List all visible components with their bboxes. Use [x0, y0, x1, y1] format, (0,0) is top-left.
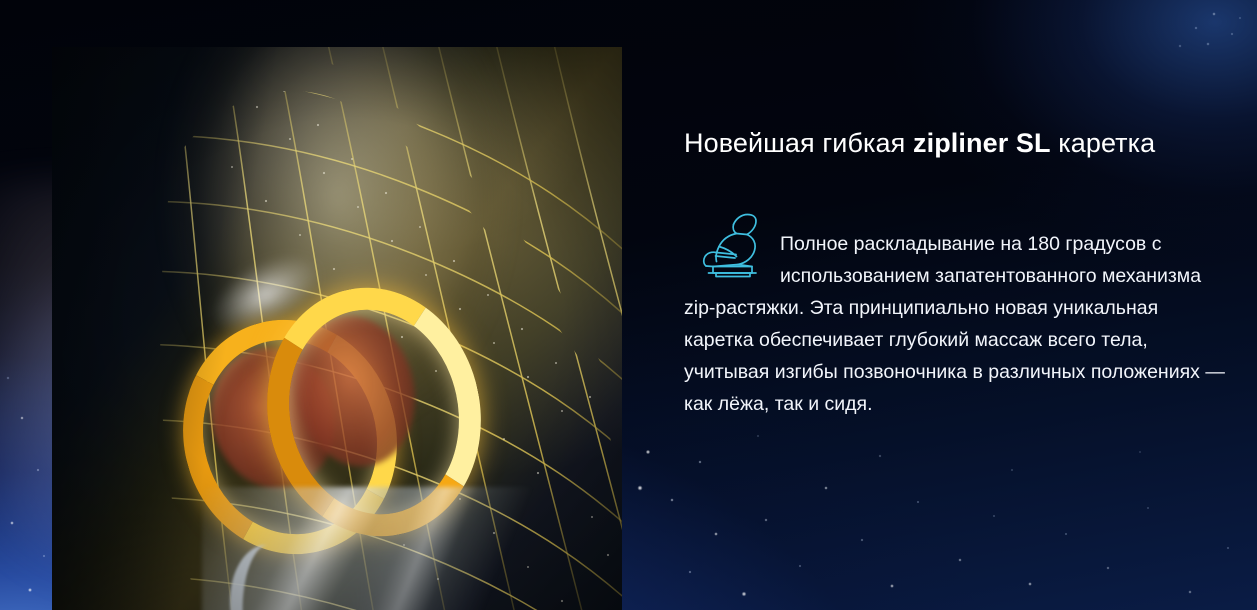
image-vignette: [52, 47, 622, 610]
product-image-panel: [52, 47, 622, 610]
headline-suffix: каретка: [1051, 128, 1156, 158]
massage-chair-icon: [695, 208, 773, 282]
page-title: Новейшая гибкая zipliner SL каретка: [684, 128, 1229, 159]
presentation-slide: Новейшая гибкая zipliner SL каретка: [0, 0, 1257, 610]
headline-product-name: zipliner SL: [913, 128, 1051, 158]
content-column: Новейшая гибкая zipliner SL каретка: [684, 0, 1224, 610]
feature-block: Полное раскладывание на 180 градусов с и…: [684, 208, 1229, 439]
headline-prefix: Новейшая гибкая: [684, 128, 913, 158]
